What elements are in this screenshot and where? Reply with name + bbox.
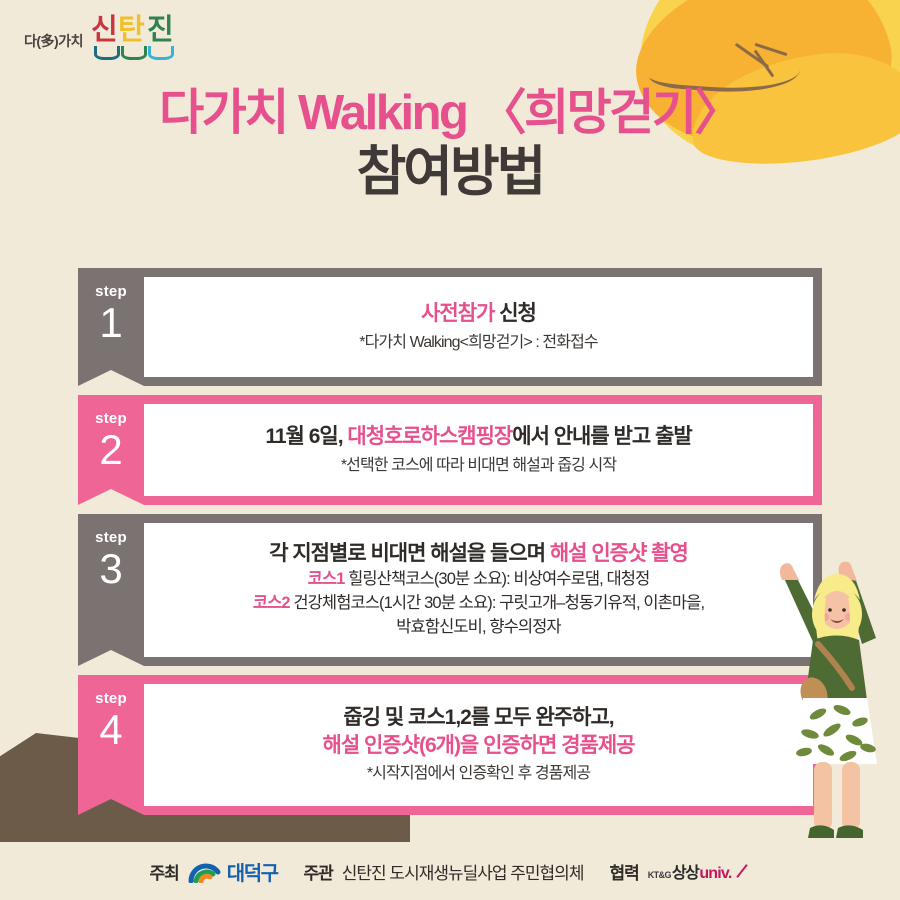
- step-content-panel: 사전참가 신청*다가치 Walking<희망걷기> : 전화접수: [144, 277, 813, 377]
- partner-univ-text: univ.: [699, 865, 731, 883]
- step-badge-word: step: [78, 411, 144, 426]
- step-row-4: step4줍깅 및 코스1,2를 모두 완주하고,해설 인증샷(6개)을 인증하…: [78, 675, 822, 815]
- step-badge-number: 2: [78, 428, 144, 472]
- step-content-panel: 각 지점별로 비대면 해설을 들으며 해설 인증샷 촬영코스1 힐링산책코스(3…: [144, 523, 813, 657]
- title-sub-text: 참여방법: [0, 143, 900, 201]
- step-text-fragment: 코스2: [253, 594, 290, 612]
- step-text-fragment: 신청: [494, 302, 535, 325]
- step-content-panel: 11월 6일, 대청호로하스캠핑장에서 안내를 받고 출발*선택한 코스에 따라…: [144, 404, 813, 496]
- step-frame: 11월 6일, 대청호로하스캠핑장에서 안내를 받고 출발*선택한 코스에 따라…: [144, 395, 822, 505]
- step-text-fragment: 코스1: [308, 570, 345, 588]
- brand-syllable-2: 탄: [118, 16, 143, 45]
- brand-wordmark: 신 탄 진: [91, 14, 175, 62]
- poster-canvas: 다(多)가치 신 탄 진 다가치 Walking 〈희망걷기〉 참여방법 ste…: [0, 0, 900, 900]
- step-text-line: 각 지점별로 비대면 해설을 들으며 해설 인증샷 촬영: [269, 540, 688, 568]
- step-badge-word: step: [78, 530, 144, 545]
- step-content-panel: 줍깅 및 코스1,2를 모두 완주하고,해설 인증샷(6개)을 인증하면 경품제…: [144, 684, 813, 806]
- brand-arc-icon: [121, 46, 147, 60]
- step-text-fragment: 박효함신도비, 향수의정자: [396, 618, 560, 636]
- step-text-line: *다가치 Walking<희망걷기> : 전화접수: [359, 332, 597, 355]
- brand-arc-icon: [148, 46, 174, 60]
- daedeok-gu-logo: 대덕구: [188, 857, 278, 886]
- step-text-line: 해설 인증샷(6개)을 인증하면 경품제공: [323, 732, 635, 760]
- host-name: 대덕구: [227, 857, 278, 886]
- steps-list: step1사전참가 신청*다가치 Walking<희망걷기> : 전화접수ste…: [78, 268, 822, 824]
- step-text-fragment: 해설 인증샷 촬영: [550, 542, 688, 565]
- step-badge-number: 4: [78, 708, 144, 752]
- step-badge-word: step: [78, 691, 144, 706]
- brand-prefix-text: 다(多)가치: [24, 31, 83, 62]
- step-row-3: step3각 지점별로 비대면 해설을 들으며 해설 인증샷 촬영코스1 힐링산…: [78, 514, 822, 666]
- brand-syllable-1: 신: [91, 16, 116, 45]
- partner-kt-text: KT&G: [648, 870, 671, 880]
- twig-icon: [754, 43, 787, 56]
- step-text-line: 박효함신도비, 향수의정자: [396, 616, 560, 640]
- step-badge-word: step: [78, 284, 144, 299]
- step-row-1: step1사전참가 신청*다가치 Walking<희망걷기> : 전화접수: [78, 268, 822, 386]
- step-frame: 줍깅 및 코스1,2를 모두 완주하고,해설 인증샷(6개)을 인증하면 경품제…: [144, 675, 822, 815]
- step-text-line: 코스1 힐링산책코스(30분 소요): 비상여수로댐, 대청정: [308, 568, 650, 592]
- partner-group: 협력 KT&G 상상 univ.: [609, 859, 750, 884]
- step-text-fragment: 대청호로하스캠핑장: [347, 425, 512, 448]
- step-badge-2: step2: [78, 395, 144, 505]
- brand-syllable-3: 진: [147, 16, 172, 45]
- step-row-2: step211월 6일, 대청호로하스캠핑장에서 안내를 받고 출발*선택한 코…: [78, 395, 822, 505]
- step-text-fragment: *시작지점에서 인증확인 후 경품제공: [367, 765, 590, 782]
- title-main-text: 다가치 Walking 〈희망걷기〉: [0, 86, 900, 141]
- step-text-line: 사전참가 신청: [421, 300, 536, 328]
- step-text-line: 11월 6일, 대청호로하스캠핑장에서 안내를 받고 출발: [265, 423, 691, 451]
- step-text-line: 코스2 건강체험코스(1시간 30분 소요): 구릿고개–청동기유적, 이촌마을…: [253, 592, 704, 616]
- organizer-label: 주관: [304, 859, 333, 884]
- step-frame: 사전참가 신청*다가치 Walking<희망걷기> : 전화접수: [144, 268, 822, 386]
- step-badge-3: step3: [78, 514, 144, 666]
- step-badge-number: 3: [78, 547, 144, 591]
- brand-logo: 다(多)가치 신 탄 진: [24, 14, 175, 62]
- step-frame: 각 지점별로 비대면 해설을 들으며 해설 인증샷 촬영코스1 힐링산책코스(3…: [144, 514, 822, 666]
- twig-icon: [735, 43, 769, 68]
- step-text-fragment: 줍깅 및 코스1,2를 모두 완주하고,: [343, 706, 613, 729]
- step-badge-4: step4: [78, 675, 144, 815]
- step-text-fragment: 에서 안내를 받고 출발: [512, 425, 691, 448]
- step-text-fragment: *다가치 Walking<희망걷기> : 전화접수: [359, 334, 597, 351]
- step-text-fragment: 건강체험코스(1시간 30분 소요): 구릿고개–청동기유적, 이촌마을,: [290, 594, 705, 612]
- step-text-fragment: 11월 6일,: [265, 425, 347, 448]
- organizer-group: 주관 신탄진 도시재생뉴딜사업 주민협의체: [304, 859, 584, 884]
- step-text-fragment: *선택한 코스에 따라 비대면 해설과 줍깅 시작: [341, 457, 616, 474]
- arc-logo-icon: [188, 859, 222, 883]
- step-text-fragment: 사전참가: [421, 302, 494, 325]
- step-text-fragment: 각 지점별로 비대면 해설을 들으며: [269, 542, 550, 565]
- step-text-fragment: 힐링산책코스(30분 소요): 비상여수로댐, 대청정: [344, 570, 649, 588]
- step-text-line: *시작지점에서 인증확인 후 경품제공: [367, 763, 590, 786]
- step-text-line: 줍깅 및 코스1,2를 모두 완주하고,: [343, 704, 613, 732]
- host-group: 주최 대덕구: [150, 857, 278, 886]
- partner-sangsang-text: 상상: [672, 859, 698, 883]
- step-text-line: *선택한 코스에 따라 비대면 해설과 줍깅 시작: [341, 455, 616, 478]
- host-label: 주최: [150, 859, 179, 884]
- brush-stroke-icon: [737, 864, 748, 878]
- step-badge-number: 1: [78, 301, 144, 345]
- step-badge-1: step1: [78, 268, 144, 386]
- ktg-sangsang-univ-logo: KT&G 상상 univ.: [648, 859, 751, 883]
- partner-label: 협력: [609, 859, 638, 884]
- brand-arc-icon: [94, 46, 120, 60]
- page-title: 다가치 Walking 〈희망걷기〉 참여방법: [0, 86, 900, 201]
- twig-icon: [754, 50, 775, 78]
- organizer-name: 신탄진 도시재생뉴딜사업 주민협의체: [342, 859, 584, 884]
- footer-credits: 주최 대덕구 주관 신탄진 도시재생뉴딜사업 주민협의체 협력 KT&G 상상 …: [0, 842, 900, 900]
- step-text-fragment: 해설 인증샷(6개)을 인증하면 경품제공: [323, 734, 635, 757]
- walker-illustration: [770, 548, 900, 860]
